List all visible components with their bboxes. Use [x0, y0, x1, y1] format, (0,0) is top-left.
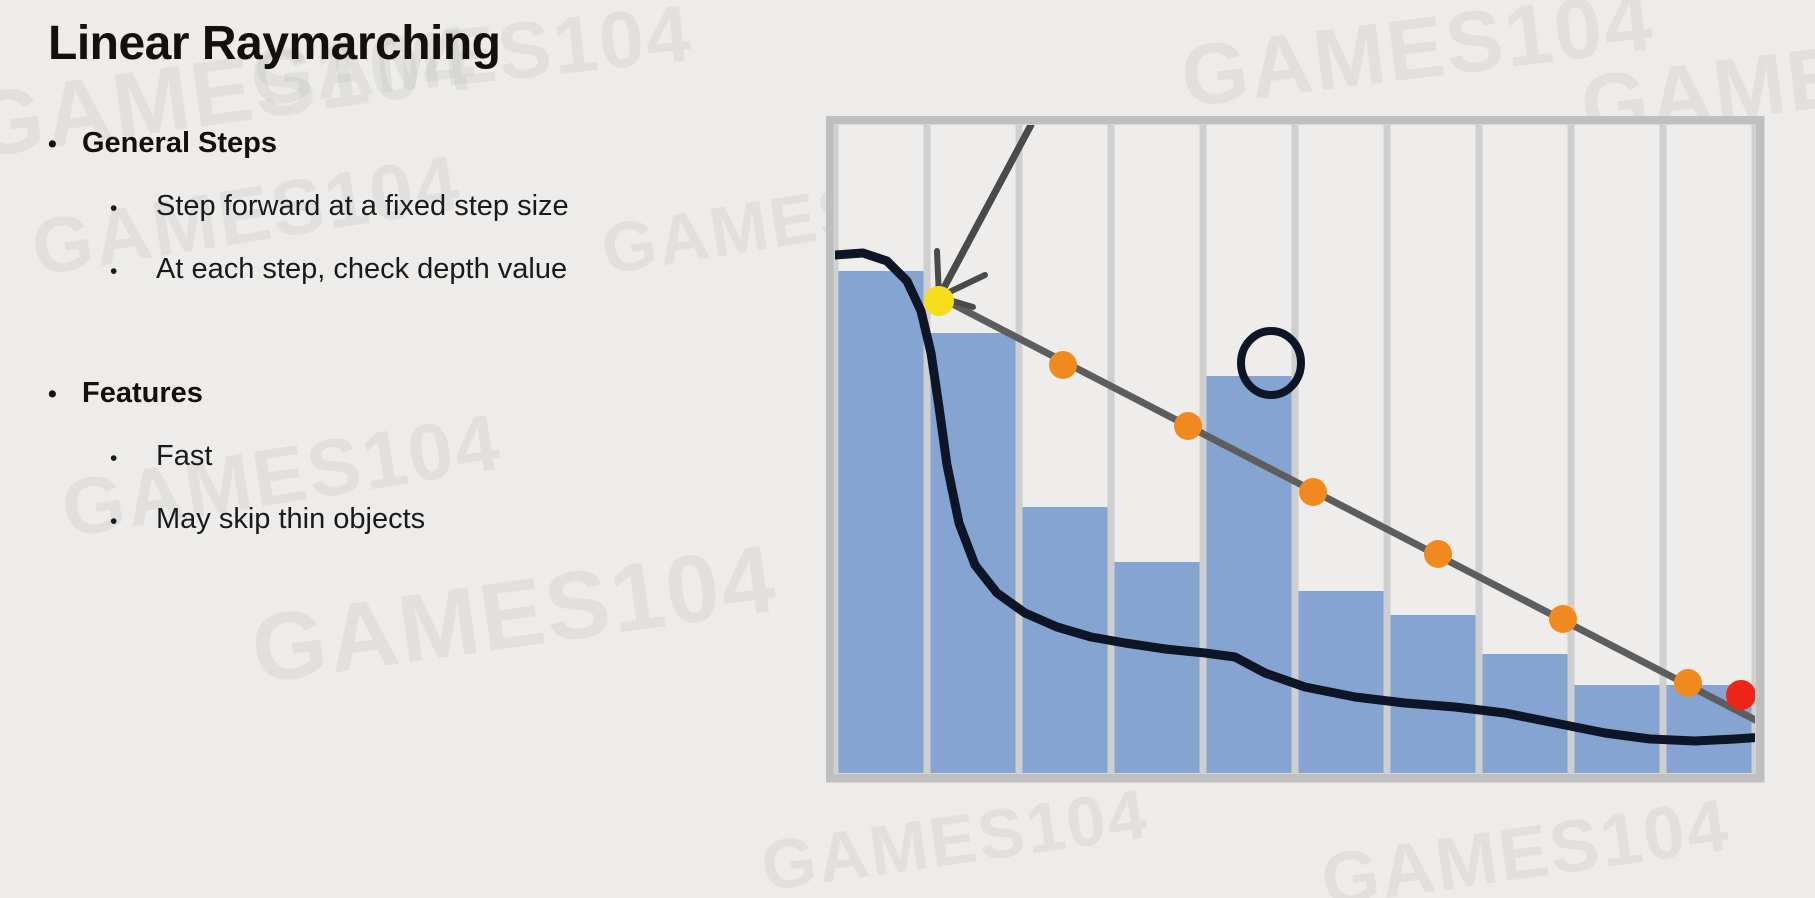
bullet-item-fast: • Fast	[110, 440, 212, 473]
depth-buffer-bar	[1387, 615, 1479, 773]
bullet-item-label: Fast	[156, 440, 212, 473]
bullet-item-check-depth: • At each step, check depth value	[110, 253, 567, 286]
depth-buffer-bar	[1295, 591, 1387, 773]
raymarching-diagram	[826, 116, 1766, 784]
bullet-dot-icon: •	[110, 448, 156, 469]
bullet-item-step-forward: • Step forward at a fixed step size	[110, 190, 569, 223]
bullet-heading-label: General Steps	[82, 127, 277, 160]
page-title: Linear Raymarching	[48, 16, 500, 71]
bullet-dot-icon: •	[48, 382, 82, 407]
slide-canvas: GAMES104 GAMES104 GAMES104 GAMES104 GAME…	[0, 0, 1815, 898]
ray-origin-hit-point	[924, 286, 954, 316]
bullet-dot-icon: •	[110, 511, 156, 532]
bullet-item-label: Step forward at a fixed step size	[156, 190, 569, 223]
ray-step-sample-point	[1299, 478, 1327, 506]
bullet-item-label: May skip thin objects	[156, 503, 425, 536]
bullet-item-label: At each step, check depth value	[156, 253, 567, 286]
ray-step-sample-point	[1674, 669, 1702, 697]
raymarching-diagram-svg	[826, 116, 1766, 784]
bullet-heading-general-steps: • General Steps	[48, 127, 277, 160]
ray-step-sample-point	[1174, 412, 1202, 440]
slide-text-column: Linear Raymarching • General Steps • Ste…	[0, 0, 820, 898]
watermark-ghost: GAMES104	[1316, 782, 1735, 898]
ray-step-sample-point	[1049, 351, 1077, 379]
depth-buffer-bar	[835, 271, 927, 773]
ray-step-sample-point	[1549, 605, 1577, 633]
bullet-heading-features: • Features	[48, 377, 203, 410]
depth-buffer-bar	[1203, 376, 1295, 773]
bullet-heading-label: Features	[82, 377, 203, 410]
bullet-dot-icon: •	[110, 261, 156, 282]
watermark-ghost: GAMES104	[1176, 0, 1659, 128]
bullet-dot-icon: •	[48, 132, 82, 157]
bullet-item-may-skip-thin-objects: • May skip thin objects	[110, 503, 425, 536]
ray-step-sample-point	[1424, 540, 1452, 568]
bullet-dot-icon: •	[110, 198, 156, 219]
depth-buffer-bar	[1111, 562, 1203, 773]
final-intersection-point	[1726, 680, 1756, 710]
